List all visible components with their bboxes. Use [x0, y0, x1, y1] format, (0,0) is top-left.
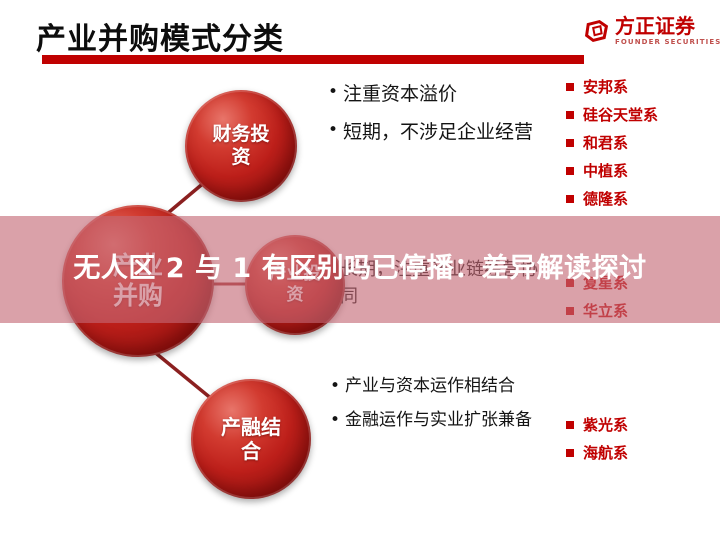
list-item: 紫光系 [566, 414, 628, 435]
bullet-text: 金融运作与实业扩张兼备 [345, 408, 532, 434]
family-label: 硅谷天堂系 [583, 104, 658, 125]
bullet-item: • 注重资本溢价 [328, 80, 543, 109]
square-bullet-icon [566, 83, 574, 91]
bullet-item: • 金融运作与实业扩张兼备 [330, 408, 545, 434]
node-financial-investment[interactable]: 财务投资 [185, 90, 297, 202]
list-item: 中植系 [566, 160, 658, 181]
family-label: 安邦系 [583, 76, 628, 97]
list-item: 德隆系 [566, 188, 658, 209]
list-item: 安邦系 [566, 76, 658, 97]
square-bullet-icon [566, 195, 574, 203]
bullets-financial-investment: • 注重资本溢价 • 短期，不涉足企业经营 [328, 80, 543, 155]
node-industry-finance-combination[interactable]: 产融结合 [191, 379, 311, 499]
bullet-item: • 产业与资本运作相结合 [330, 374, 545, 400]
overlay-banner-text: 无人区 2 与 1 有区别吗已停播：差异解读探讨 [0, 216, 720, 323]
node-industry-finance-combination-label: 产融结合 [215, 415, 287, 464]
bullet-dot-icon: • [330, 408, 340, 434]
family-label: 和君系 [583, 132, 628, 153]
square-bullet-icon [566, 421, 574, 429]
square-bullet-icon [566, 167, 574, 175]
family-label: 中植系 [583, 160, 628, 181]
family-label: 紫光系 [583, 414, 628, 435]
bullet-text: 产业与资本运作相结合 [345, 374, 515, 400]
list-item: 海航系 [566, 442, 628, 463]
family-list-industry-finance-combination: 紫光系 海航系 [566, 414, 628, 470]
bullet-dot-icon: • [330, 374, 340, 400]
family-list-financial-investment: 安邦系 硅谷天堂系 和君系 中植系 德隆系 [566, 76, 658, 216]
square-bullet-icon [566, 139, 574, 147]
bullets-industry-finance-combination: • 产业与资本运作相结合 • 金融运作与实业扩张兼备 [330, 374, 545, 441]
bullet-dot-icon: • [328, 80, 338, 106]
square-bullet-icon [566, 449, 574, 457]
family-label: 德隆系 [583, 188, 628, 209]
square-bullet-icon [566, 111, 574, 119]
node-financial-investment-label: 财务投资 [208, 123, 274, 169]
bullet-text: 注重资本溢价 [343, 80, 457, 109]
slide-canvas: 产业并购模式分类 方正证券 FOUNDER SECURITIES 财务投资 产业… [0, 0, 720, 540]
list-item: 硅谷天堂系 [566, 104, 658, 125]
list-item: 和君系 [566, 132, 658, 153]
bullet-text: 短期，不涉足企业经营 [343, 118, 533, 147]
family-label: 海航系 [583, 442, 628, 463]
bullet-dot-icon: • [328, 118, 338, 144]
bullet-item: • 短期，不涉足企业经营 [328, 118, 543, 147]
